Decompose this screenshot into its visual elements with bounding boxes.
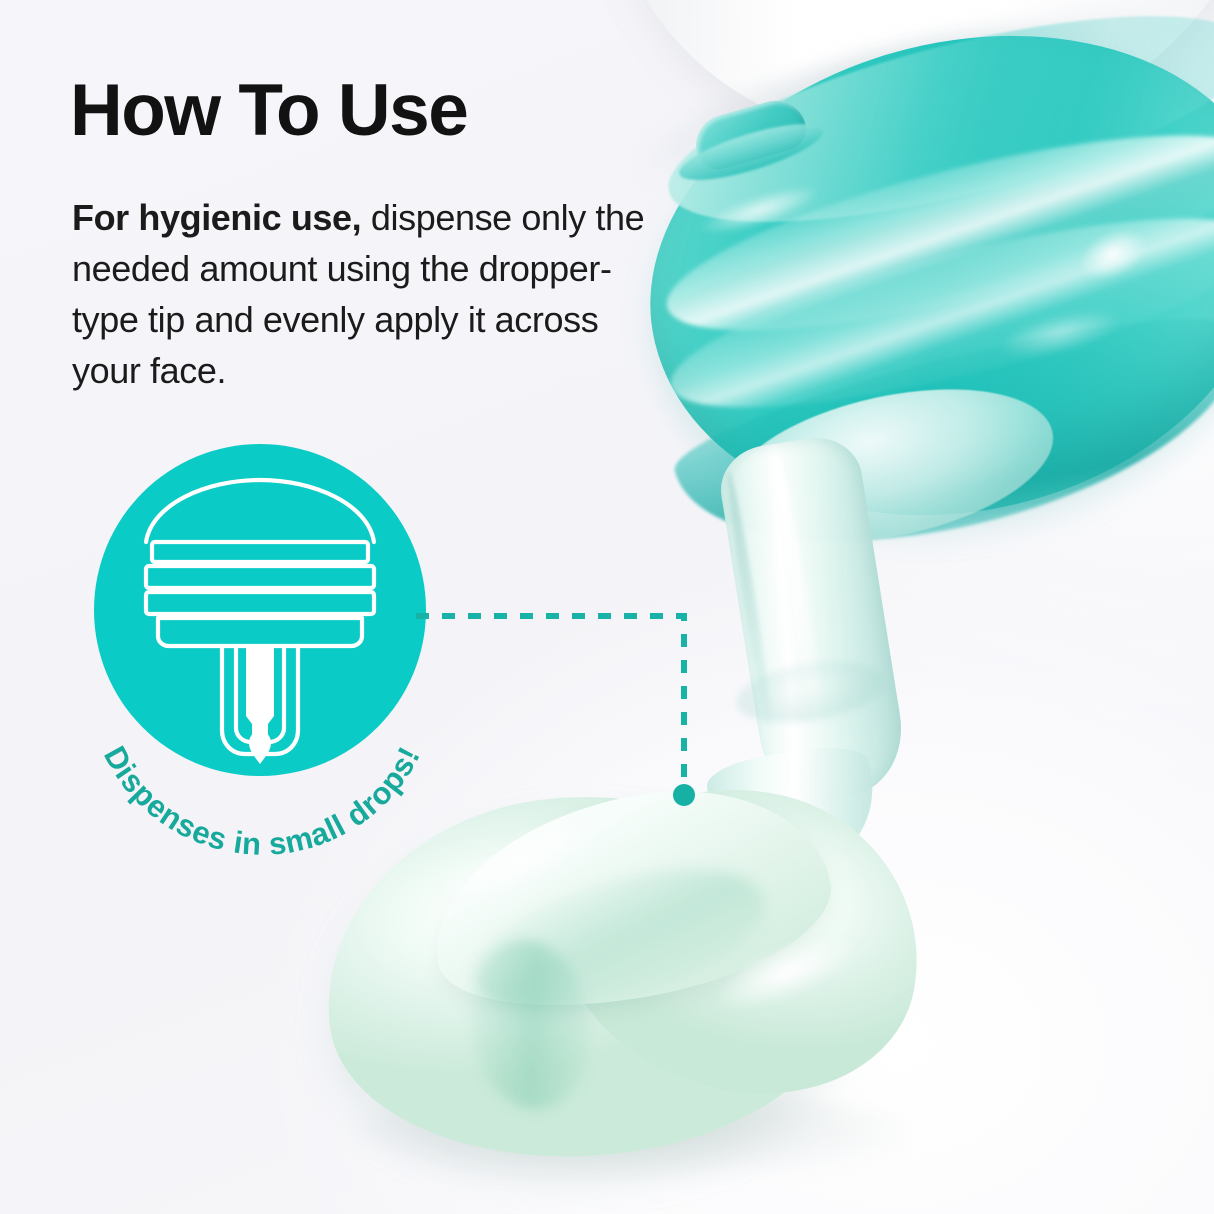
page-title: How To Use <box>70 74 467 147</box>
instruction-paragraph: For hygienic use, dispense only the need… <box>72 192 652 396</box>
instruction-lead-bold: For hygienic use, <box>72 197 361 238</box>
infographic-canvas: How To Use For hygienic use, dispense on… <box>0 0 1214 1214</box>
badge-caption-arc: Dispenses in small drops! <box>72 444 452 834</box>
